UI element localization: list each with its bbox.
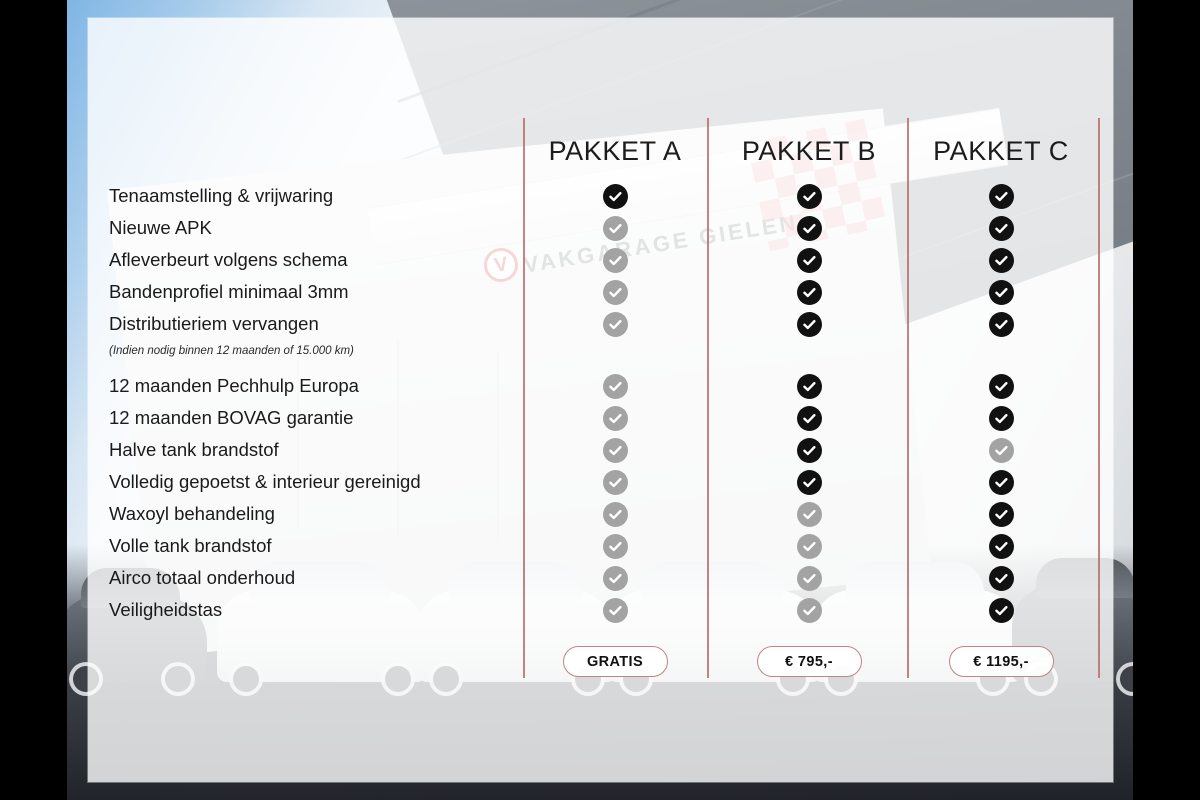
check-circle-filled-icon <box>989 566 1014 591</box>
check-circle-filled-icon <box>989 280 1014 305</box>
check-circle-filled-icon <box>989 248 1014 273</box>
feature-label: Afleverbeurt volgens schema <box>109 249 348 271</box>
check-circle-filled-icon <box>797 312 822 337</box>
feature-label: Bandenprofiel minimaal 3mm <box>109 281 349 303</box>
check-circle-muted-icon <box>603 502 628 527</box>
check-circle-filled-icon <box>797 374 822 399</box>
check-circle-filled-icon <box>797 280 822 305</box>
feature-label: Tenaamstelling & vrijwaring <box>109 185 333 207</box>
check-circle-filled-icon <box>797 216 822 241</box>
check-circle-muted-icon <box>603 598 628 623</box>
feature-label: Volledig gepoetst & interieur gereinigd <box>109 471 421 493</box>
check-circle-muted-icon <box>603 374 628 399</box>
feature-label: 12 maanden BOVAG garantie <box>109 407 353 429</box>
feature-note: (Indien nodig binnen 12 maanden of 15.00… <box>109 345 354 357</box>
feature-label: Airco totaal onderhoud <box>109 567 295 589</box>
feature-label: Veiligheidstas <box>109 599 222 621</box>
check-circle-muted-icon <box>797 534 822 559</box>
check-circle-muted-icon <box>797 598 822 623</box>
content-panel: PAKKET APAKKET BPAKKET CTenaamstelling &… <box>88 18 1113 782</box>
feature-label: Nieuwe APK <box>109 217 212 239</box>
check-circle-muted-icon <box>797 566 822 591</box>
check-circle-filled-icon <box>797 248 822 273</box>
price-button-a[interactable]: GRATIS <box>563 646 668 677</box>
check-circle-muted-icon <box>603 312 628 337</box>
check-circle-muted-icon <box>603 534 628 559</box>
screenshot-stage: V VAKGARAGE GIELEN <box>0 0 1200 800</box>
check-circle-filled-icon <box>989 502 1014 527</box>
feature-label: Halve tank brandstof <box>109 439 279 461</box>
check-circle-filled-icon <box>989 406 1014 431</box>
column-divider-3 <box>907 118 909 678</box>
check-circle-filled-icon <box>797 470 822 495</box>
feature-label: Waxoyl behandeling <box>109 503 275 525</box>
check-circle-muted-icon <box>603 470 628 495</box>
check-circle-filled-icon <box>603 184 628 209</box>
package-comparison-table: PAKKET APAKKET BPAKKET CTenaamstelling &… <box>88 18 1113 782</box>
column-divider-1 <box>523 118 525 678</box>
feature-label: Distributieriem vervangen <box>109 313 319 335</box>
column-header-a: PAKKET A <box>505 136 725 178</box>
check-circle-muted-icon <box>603 216 628 241</box>
check-circle-filled-icon <box>989 216 1014 241</box>
check-circle-filled-icon <box>989 598 1014 623</box>
check-circle-filled-icon <box>989 374 1014 399</box>
check-circle-filled-icon <box>797 438 822 463</box>
check-circle-filled-icon <box>797 406 822 431</box>
check-circle-muted-icon <box>603 280 628 305</box>
check-circle-filled-icon <box>989 184 1014 209</box>
check-circle-filled-icon <box>989 312 1014 337</box>
check-circle-muted-icon <box>603 566 628 591</box>
column-divider-2 <box>707 118 709 678</box>
column-divider-4 <box>1098 118 1100 678</box>
check-circle-muted-icon <box>989 438 1014 463</box>
check-circle-muted-icon <box>797 502 822 527</box>
check-circle-filled-icon <box>797 184 822 209</box>
column-header-c: PAKKET C <box>891 136 1111 178</box>
price-button-b[interactable]: € 795,- <box>757 646 862 677</box>
check-circle-muted-icon <box>603 406 628 431</box>
check-circle-filled-icon <box>989 534 1014 559</box>
price-button-c[interactable]: € 1195,- <box>949 646 1054 677</box>
feature-label: Volle tank brandstof <box>109 535 272 557</box>
check-circle-filled-icon <box>989 470 1014 495</box>
column-header-b: PAKKET B <box>699 136 919 178</box>
feature-label: 12 maanden Pechhulp Europa <box>109 375 359 397</box>
check-circle-muted-icon <box>603 438 628 463</box>
check-circle-muted-icon <box>603 248 628 273</box>
